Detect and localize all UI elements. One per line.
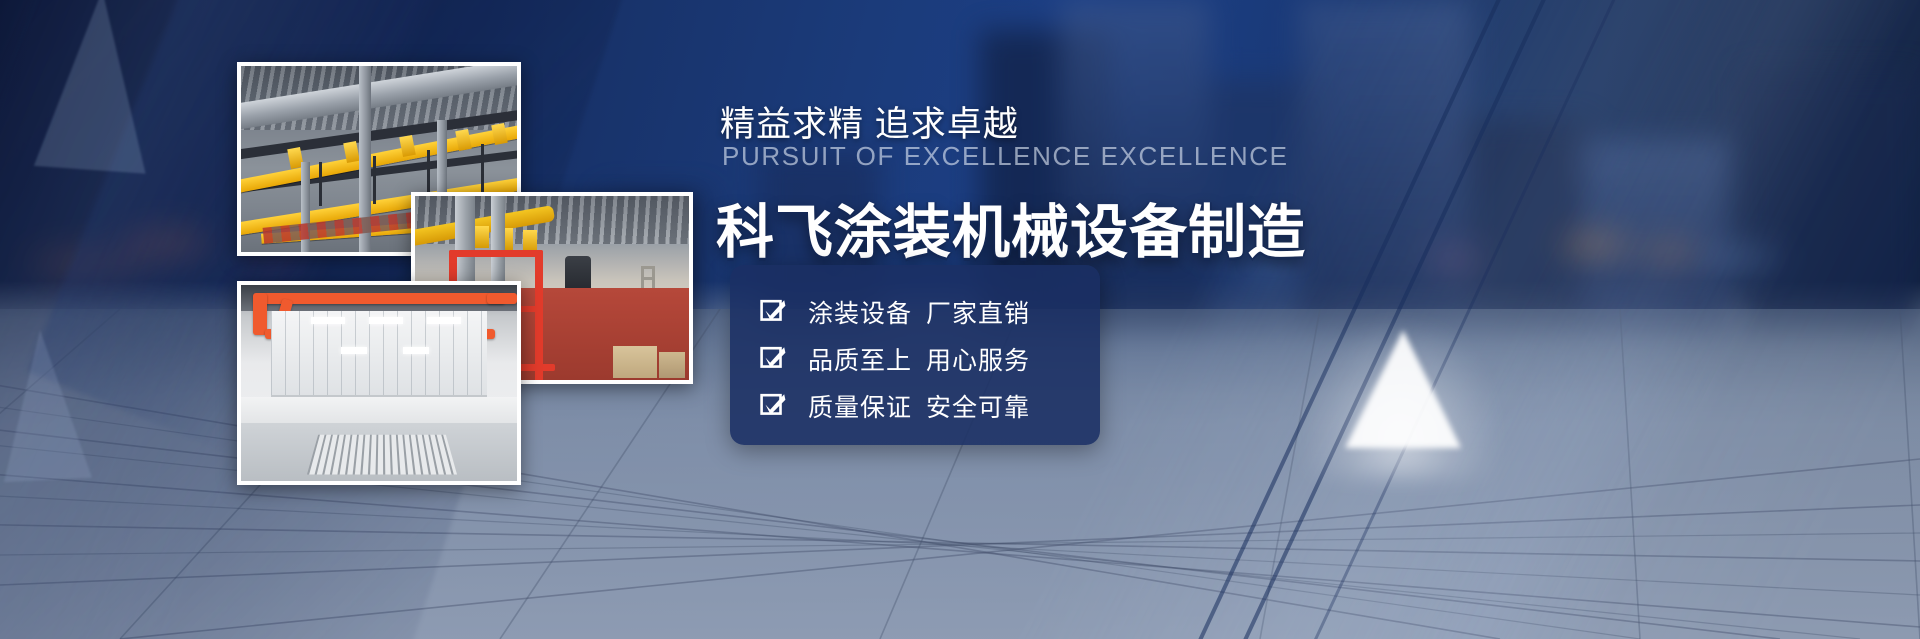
checkbox-checked-icon bbox=[760, 393, 786, 419]
photo-collage bbox=[0, 0, 720, 639]
promotional-banner: 精益求精 追求卓越 PURSUIT OF EXCELLENCE EXCELLEN… bbox=[0, 0, 1920, 639]
banner-text-block: 精益求精 追求卓越 PURSUIT OF EXCELLENCE EXCELLEN… bbox=[716, 0, 1276, 639]
spray-booth-illustration bbox=[241, 285, 517, 481]
banner-slogan-chinese: 精益求精 追求卓越 bbox=[720, 96, 1019, 147]
banner-slogan-english: PURSUIT OF EXCELLENCE EXCELLENCE bbox=[722, 141, 1289, 172]
checkbox-checked-icon bbox=[760, 299, 786, 325]
feature-item: 涂装设备厂家直销 bbox=[760, 289, 1100, 334]
feature-item: 品质至上用心服务 bbox=[760, 336, 1100, 381]
feature-list-card: 涂装设备厂家直销 品质至上用心服务 质量保证 bbox=[730, 265, 1100, 445]
feature-label: 涂装设备厂家直销 bbox=[808, 294, 1030, 330]
banner-title: 科飞涂装机械设备制造 bbox=[716, 185, 1306, 269]
photo-spray-booth[interactable] bbox=[237, 281, 521, 485]
feature-label: 质量保证安全可靠 bbox=[808, 388, 1030, 424]
feature-label: 品质至上用心服务 bbox=[808, 341, 1030, 377]
decorative-triangle-spotlight bbox=[1345, 330, 1461, 448]
feature-item: 质量保证安全可靠 bbox=[760, 383, 1100, 428]
checkbox-checked-icon bbox=[760, 346, 786, 372]
